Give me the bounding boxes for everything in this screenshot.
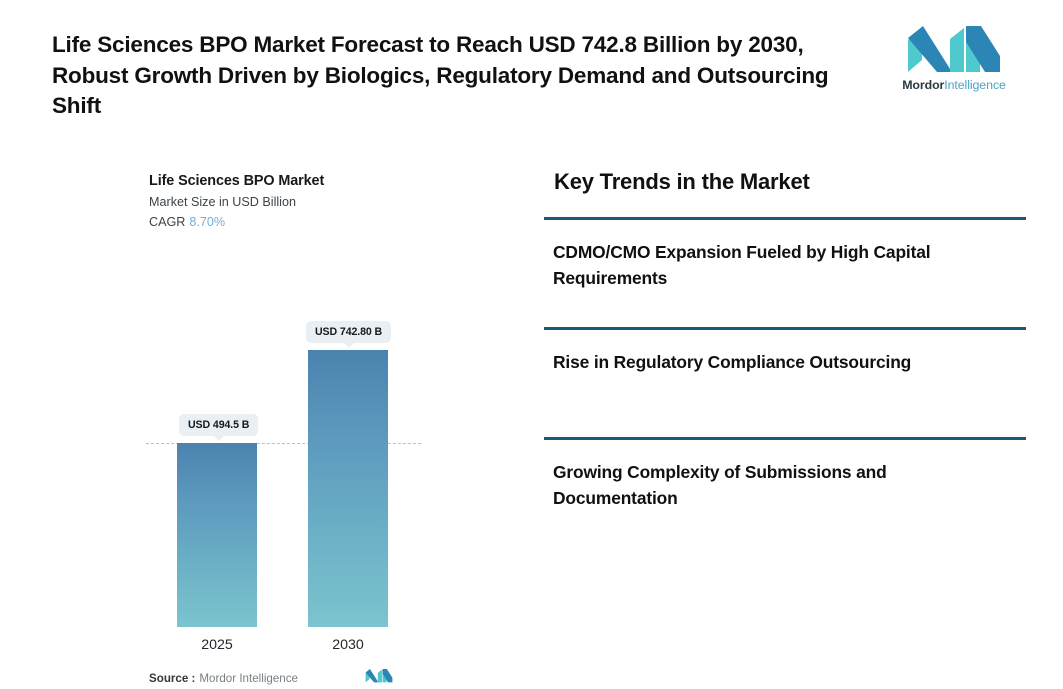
x-axis-tick-2030: 2030 [293,637,403,653]
trend-divider [544,327,1026,330]
trend-divider [544,437,1026,440]
trend-item-label: Rise in Regulatory Compliance Outsourcin… [553,349,999,375]
page-header: Life Sciences BPO Market Forecast to Rea… [0,0,1063,138]
trend-item: Growing Complexity of Submissions and Do… [544,437,1026,511]
bar-2025 [177,443,257,627]
trend-item: CDMO/CMO Expansion Fueled by High Capita… [544,217,1026,291]
bar-2030 [308,350,388,627]
chart-panel: Life Sciences BPO Market Market Size in … [0,138,520,567]
source-value: Mordor Intelligence [199,672,298,685]
key-trends-heading: Key Trends in the Market [554,169,810,195]
trend-divider [544,217,1026,220]
bar-value-label-2025: USD 494.5 B [179,414,258,436]
source-logo-mark [365,668,393,684]
page-title: Life Sciences BPO Market Forecast to Rea… [52,30,842,122]
chart-source: Source :Mordor Intelligence [149,669,409,689]
key-trends-panel: Key Trends in the Market CDMO/CMO Expans… [540,138,1040,567]
trend-item-label: Growing Complexity of Submissions and Do… [553,459,999,511]
mordor-logo-mark [906,26,1002,74]
bar-value-label-2030: USD 742.80 B [306,321,391,343]
mordor-intelligence-logo: MordorIntelligence [889,26,1019,104]
brand-word-intelligence: Intelligence [944,78,1006,92]
brand-word-mordor: Mordor [902,78,944,92]
source-label: Source : [149,672,195,685]
bar-chart-plot: USD 494.5 B USD 742.80 B 2025 2030 [0,138,520,567]
brand-wordmark: MordorIntelligence [889,78,1019,92]
x-axis-tick-2025: 2025 [162,637,272,653]
trend-item: Rise in Regulatory Compliance Outsourcin… [544,327,1026,375]
trend-item-label: CDMO/CMO Expansion Fueled by High Capita… [553,239,999,291]
